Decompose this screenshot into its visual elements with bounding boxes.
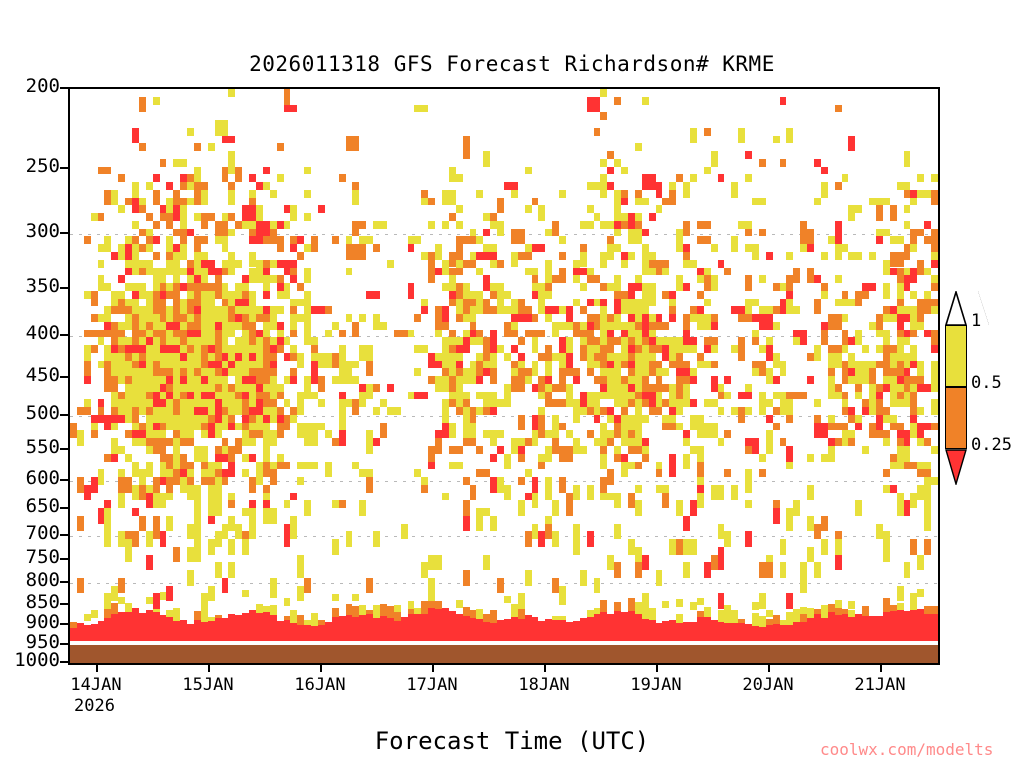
heatmap-cell	[573, 322, 580, 338]
heatmap-cell	[497, 221, 504, 237]
heatmap-cell	[924, 477, 938, 485]
y-axis-tick-label: 850	[26, 593, 60, 612]
heatmap-cell	[304, 500, 311, 516]
heatmap-cell	[600, 112, 607, 120]
heatmap-cell	[125, 260, 132, 268]
heatmap-cell	[635, 462, 642, 470]
heatmap-cell	[201, 190, 208, 206]
heatmap-cell	[414, 368, 421, 376]
heatmap-cell	[456, 600, 463, 608]
heatmap-cell	[704, 423, 711, 431]
heatmap-cell	[77, 578, 84, 594]
x-axis-tick	[432, 663, 434, 672]
heatmap-cell	[249, 477, 256, 493]
heatmap-cell	[215, 120, 229, 136]
heatmap-cell	[607, 244, 621, 252]
heatmap-cell	[332, 438, 339, 446]
heatmap-cell	[290, 330, 297, 338]
heatmap-cell	[821, 190, 828, 198]
heatmap-cell	[876, 399, 883, 415]
heatmap-cell	[545, 368, 552, 376]
heatmap-cell	[490, 330, 497, 338]
heatmap-cell	[449, 446, 463, 454]
heatmap-cell	[201, 353, 208, 361]
heatmap-cell	[263, 469, 270, 477]
heatmap-cell	[242, 438, 256, 446]
heatmap-cell	[201, 609, 208, 623]
heatmap-cell	[228, 361, 235, 369]
heatmap-cell	[828, 361, 835, 369]
heatmap-cell	[835, 252, 842, 260]
heatmap-cell	[153, 407, 160, 415]
heatmap-cell	[201, 415, 208, 423]
heatmap-cell	[476, 609, 483, 619]
heatmap-cell	[228, 415, 235, 423]
heatmap-cell	[173, 268, 180, 276]
heatmap-cell	[173, 252, 180, 260]
heatmap-cell	[497, 345, 504, 353]
heatmap-cell	[614, 221, 621, 229]
heatmap-cell	[373, 438, 380, 446]
heatmap-cell	[277, 330, 284, 338]
x-axis-tick	[320, 663, 322, 672]
heatmap-cell	[160, 407, 167, 415]
heatmap-cell	[366, 578, 373, 594]
heatmap-cell	[511, 368, 518, 376]
heatmap-cell	[704, 562, 711, 578]
heatmap-cell	[607, 361, 614, 369]
heatmap-cell	[304, 306, 311, 314]
y-axis-tick-label: 750	[26, 548, 60, 567]
heatmap-cell	[222, 446, 229, 454]
heatmap-cell	[724, 392, 731, 400]
heatmap-cell	[456, 306, 463, 314]
heatmap-cell	[497, 446, 504, 454]
heatmap-cell	[697, 485, 704, 493]
heatmap-cell	[786, 593, 793, 609]
heatmap-cell	[146, 244, 153, 252]
heatmap-cell	[421, 601, 428, 614]
heatmap-cell	[277, 275, 284, 283]
heatmap-cell	[890, 268, 897, 276]
heatmap-cell	[132, 368, 139, 376]
heatmap-cell	[463, 291, 470, 299]
heatmap-cell	[173, 260, 180, 268]
heatmap-cell	[256, 330, 263, 338]
heatmap-cell	[118, 469, 125, 477]
heatmap-cell	[683, 283, 690, 291]
heatmap-cell	[180, 182, 187, 190]
heatmap-cell	[187, 469, 194, 477]
heatmap-cell	[449, 268, 463, 276]
heatmap-cell	[773, 361, 780, 369]
heatmap-cell	[545, 392, 552, 400]
heatmap-cell	[125, 236, 132, 244]
heatmap-cell	[573, 399, 580, 407]
heatmap-cell	[559, 446, 566, 454]
heatmap-cell	[215, 353, 222, 361]
heatmap-cell	[270, 399, 277, 407]
heatmap-cell	[180, 469, 187, 477]
heatmap-cell	[545, 384, 552, 392]
heatmap-cell	[125, 399, 139, 407]
heatmap-cell	[222, 236, 229, 244]
heatmap-cell	[160, 159, 167, 167]
heatmap-cell	[153, 291, 160, 299]
heatmap-cell	[277, 244, 284, 252]
heatmap-cell	[173, 376, 180, 384]
heatmap-cell	[559, 477, 566, 493]
heatmap-cell	[594, 407, 601, 415]
heatmap-cell	[511, 190, 518, 198]
heatmap-cell	[683, 399, 690, 407]
heatmap-cell	[848, 610, 855, 618]
heatmap-cell	[160, 205, 167, 213]
heatmap-cell	[215, 423, 222, 439]
heatmap-cell	[222, 477, 229, 485]
heatmap-cell	[518, 361, 525, 369]
heatmap-cell	[848, 337, 855, 345]
heatmap-cell	[594, 392, 601, 400]
heatmap-cell	[208, 462, 215, 470]
heatmap-cell	[449, 337, 456, 345]
y-axis-tick	[60, 479, 69, 481]
gridline	[70, 663, 938, 664]
heatmap-cell	[614, 493, 621, 509]
heatmap-cell	[476, 190, 483, 198]
heatmap-cell	[284, 89, 291, 105]
heatmap-cell	[160, 477, 167, 485]
heatmap-cell	[111, 361, 118, 369]
heatmap-cell	[614, 423, 621, 431]
heatmap-cell	[869, 399, 876, 407]
heatmap-cell	[910, 190, 917, 198]
heatmap-cell	[587, 407, 594, 415]
heatmap-cell	[614, 337, 621, 345]
heatmap-cell	[559, 337, 566, 345]
heatmap-cell	[910, 593, 917, 601]
heatmap-cell	[697, 314, 704, 330]
heatmap-cell	[635, 221, 642, 229]
heatmap-cell	[711, 399, 718, 407]
heatmap-cell	[166, 462, 173, 470]
heatmap-cell	[566, 446, 573, 454]
heatmap-cell	[566, 493, 573, 501]
heatmap-cell	[166, 244, 173, 252]
heatmap-cell	[359, 353, 373, 361]
heatmap-cell	[194, 190, 201, 206]
heatmap-cell	[470, 260, 477, 268]
heatmap-cell	[297, 477, 304, 485]
heatmap-cell	[146, 392, 153, 400]
heatmap-cell	[166, 361, 173, 369]
heatmap-cell	[600, 337, 607, 345]
heatmap-cell	[146, 493, 153, 509]
heatmap-cell	[263, 268, 270, 276]
heatmap-cell	[270, 415, 277, 423]
heatmap-cell	[442, 260, 449, 276]
heatmap-cell	[277, 384, 284, 392]
heatmap-cell	[897, 268, 904, 284]
heatmap-cell	[249, 322, 256, 338]
heatmap-cell	[332, 361, 339, 369]
heatmap-cell	[187, 399, 194, 407]
heatmap-cell	[910, 610, 917, 645]
heatmap-cell	[559, 376, 566, 384]
heatmap-cell	[104, 190, 111, 198]
heatmap-cell	[835, 539, 842, 555]
heatmap-cell	[780, 361, 787, 369]
heatmap-cell	[690, 174, 697, 182]
y-axis-tick-label: 250	[26, 157, 60, 176]
heatmap-cell	[104, 516, 111, 532]
heatmap-cell	[532, 283, 539, 291]
heatmap-cell	[628, 415, 635, 431]
heatmap-cell	[614, 430, 621, 438]
heatmap-cell	[215, 322, 222, 330]
heatmap-cell	[676, 275, 683, 291]
heatmap-cell	[476, 291, 483, 299]
heatmap-cell	[876, 236, 883, 244]
heatmap-cell	[284, 415, 291, 431]
heatmap-cell	[394, 330, 408, 338]
heatmap-cell	[545, 485, 552, 501]
heatmap-cell	[222, 407, 229, 415]
heatmap-cell	[146, 376, 153, 384]
heatmap-cell	[98, 337, 105, 345]
heatmap-cell	[635, 368, 642, 376]
heatmap-cell	[594, 345, 601, 353]
heatmap-cell	[842, 438, 849, 446]
heatmap-cell	[208, 430, 215, 438]
heatmap-cell	[676, 345, 690, 353]
heatmap-cell	[848, 415, 855, 423]
heatmap-cell	[139, 361, 146, 369]
heatmap-cell	[352, 376, 359, 384]
heatmap-cell	[187, 314, 194, 322]
heatmap-cell	[228, 322, 235, 330]
heatmap-cell	[600, 322, 614, 330]
heatmap-cell	[160, 213, 167, 221]
heatmap-cell	[910, 599, 917, 610]
heatmap-cell	[532, 337, 539, 353]
heatmap-cell	[511, 314, 525, 322]
heatmap-cell	[187, 485, 194, 501]
heatmap-cell	[752, 368, 759, 376]
heatmap-cell	[876, 322, 883, 330]
heatmap-cell	[724, 430, 731, 438]
heatmap-cell	[463, 151, 470, 159]
heatmap-cell	[807, 268, 814, 284]
heatmap-cell	[173, 291, 180, 299]
heatmap-cell	[635, 330, 642, 338]
heatmap-cell	[463, 136, 470, 152]
heatmap-cell	[525, 570, 532, 586]
heatmap-cell	[325, 306, 332, 314]
colorbar-label: 1	[971, 313, 981, 330]
heatmap-cell	[428, 198, 435, 206]
heatmap-cell	[118, 205, 125, 213]
heatmap-cell	[752, 198, 766, 206]
heatmap-cell	[649, 608, 656, 619]
heatmap-cell	[242, 345, 249, 353]
heatmap-cell	[235, 524, 242, 540]
heatmap-cell	[263, 376, 270, 384]
heatmap-cell	[842, 174, 849, 182]
heatmap-cell	[786, 299, 793, 315]
heatmap-cell	[166, 407, 173, 415]
heatmap-cell	[187, 283, 194, 291]
heatmap-cell	[215, 415, 222, 423]
heatmap-cell	[146, 423, 153, 431]
heatmap-cell	[235, 167, 242, 183]
heatmap-cell	[249, 174, 256, 182]
x-axis-tick-label: 21JAN	[835, 676, 925, 696]
heatmap-cell	[284, 337, 291, 345]
heatmap-cell	[373, 605, 380, 612]
heatmap-cell	[228, 462, 235, 478]
heatmap-cell	[628, 213, 635, 221]
heatmap-cell	[249, 353, 256, 361]
heatmap-cell	[270, 477, 277, 485]
heatmap-cell	[160, 306, 167, 314]
heatmap-cell	[173, 399, 180, 407]
heatmap-cell	[456, 368, 463, 376]
heatmap-cell	[635, 213, 642, 221]
heatmap-cell	[910, 314, 917, 322]
heatmap-cell	[821, 167, 828, 175]
heatmap-cell	[904, 562, 911, 578]
heatmap-cell	[228, 345, 235, 353]
heatmap-cell	[904, 430, 911, 446]
heatmap-cell	[91, 423, 98, 431]
heatmap-cell	[573, 524, 580, 540]
heatmap-cell	[924, 190, 931, 198]
heatmap-cell	[290, 268, 297, 276]
heatmap-cell	[284, 500, 291, 508]
heatmap-cell	[166, 586, 173, 602]
heatmap-cell	[297, 252, 304, 260]
heatmap-cell	[166, 330, 173, 338]
heatmap-cell	[153, 283, 160, 291]
heatmap-cell	[146, 368, 153, 376]
heatmap-cell	[277, 221, 284, 229]
heatmap-cell	[249, 198, 256, 206]
heatmap-cell	[897, 236, 904, 244]
heatmap-cell	[821, 330, 828, 346]
heatmap-cell	[628, 322, 635, 330]
heatmap-cell	[525, 368, 532, 376]
heatmap-cell	[470, 337, 477, 345]
heatmap-cell	[222, 299, 229, 307]
heatmap-cell	[607, 345, 614, 353]
heatmap-cell	[669, 299, 676, 307]
heatmap-cell	[600, 438, 607, 446]
heatmap-cell	[855, 415, 862, 423]
heatmap-cell	[228, 368, 235, 376]
heatmap-cell	[683, 438, 690, 446]
heatmap-cell	[166, 345, 173, 353]
heatmap-cell	[697, 236, 711, 244]
heatmap-cell	[786, 446, 793, 462]
heatmap-cell	[600, 376, 607, 384]
heatmap-cell	[153, 299, 160, 307]
heatmap-cell	[738, 407, 745, 423]
heatmap-cell	[525, 469, 532, 477]
heatmap-cell	[263, 392, 270, 408]
heatmap-cell	[173, 190, 180, 198]
heatmap-cell	[270, 229, 277, 245]
heatmap-cell	[256, 337, 263, 345]
heatmap-cell	[683, 539, 690, 555]
heatmap-cell	[277, 283, 284, 291]
heatmap-cell	[304, 268, 311, 284]
heatmap-cell	[421, 190, 428, 198]
heatmap-cell	[125, 415, 132, 423]
heatmap-cell	[352, 594, 359, 602]
heatmap-cell	[897, 299, 904, 307]
x-axis-tick-label: 14JAN	[51, 676, 141, 696]
heatmap-cell	[931, 229, 938, 237]
heatmap-cell	[146, 182, 153, 190]
heatmap-cell	[256, 462, 263, 470]
y-axis-tick	[60, 603, 69, 605]
heatmap-cell	[249, 407, 263, 415]
heatmap-cell	[883, 337, 890, 345]
heatmap-cell	[435, 353, 449, 361]
heatmap-cell	[201, 275, 208, 283]
heatmap-cell	[421, 252, 428, 260]
heatmap-cell	[160, 314, 167, 322]
heatmap-cell	[153, 430, 160, 438]
heatmap-cell	[104, 384, 118, 392]
heatmap-cell	[166, 182, 173, 190]
heatmap-cell	[842, 291, 849, 299]
heatmap-cell	[559, 236, 566, 244]
heatmap-cell	[270, 190, 277, 198]
heatmap-cell	[897, 322, 904, 330]
heatmap-cell	[222, 260, 229, 268]
heatmap-cell	[538, 531, 545, 547]
heatmap-cell	[883, 384, 890, 392]
heatmap-cell	[146, 610, 153, 645]
heatmap-cell	[635, 337, 642, 345]
heatmap-cell	[98, 275, 105, 291]
heatmap-cell	[139, 330, 146, 338]
heatmap-cell	[318, 399, 325, 407]
heatmap-cell	[607, 438, 614, 446]
heatmap-cell	[890, 605, 897, 612]
heatmap-cell	[635, 198, 649, 206]
heatmap-cell	[270, 438, 277, 446]
heatmap-cell	[449, 291, 456, 299]
heatmap-cell	[600, 361, 607, 369]
heatmap-cell	[669, 407, 676, 415]
heatmap-cell	[490, 516, 497, 532]
heatmap-cell	[297, 314, 311, 322]
heatmap-cell	[235, 423, 242, 431]
heatmap-cell	[525, 330, 539, 338]
heatmap-cell	[835, 229, 842, 245]
heatmap-cell	[518, 500, 525, 516]
heatmap-cell	[153, 384, 160, 392]
heatmap-cell	[504, 485, 511, 501]
heatmap-cell	[518, 477, 525, 485]
heatmap-cell	[931, 275, 938, 283]
heatmap-cell	[587, 268, 594, 276]
heatmap-cell	[580, 392, 587, 408]
heatmap-cell	[793, 337, 800, 345]
